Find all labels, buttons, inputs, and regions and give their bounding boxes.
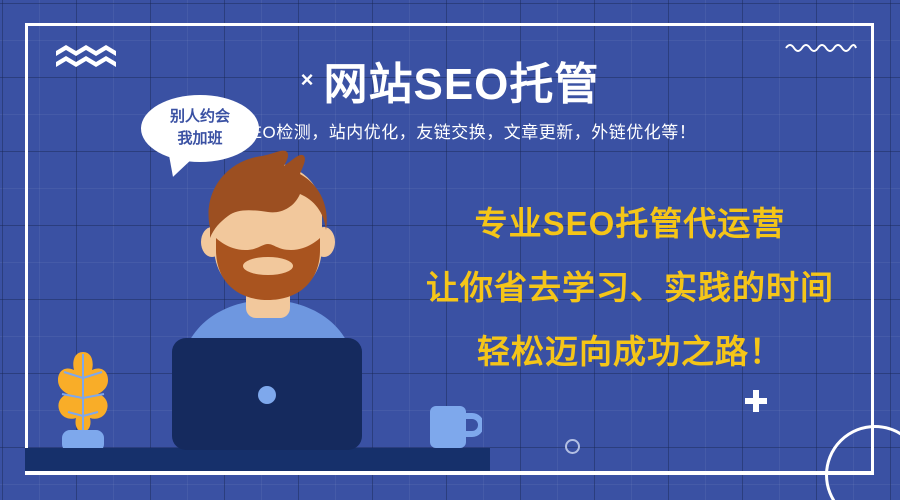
speech-bubble: 别人约会 我加班 (141, 95, 259, 162)
speech-bubble-line-2: 我加班 (141, 128, 259, 150)
laptop-illustration (172, 338, 362, 453)
subtitle-text: 含：SEO检测，站内优化，友链交换，文章更新，外链优化等！ (0, 118, 900, 143)
speech-bubble-line-1: 别人约会 (141, 106, 259, 128)
plus-mark-decoration (745, 390, 767, 412)
slogan-line-3: 轻松迈向成功之路！ (390, 320, 870, 384)
slogan-line-1: 专业SEO托管代运营 (390, 192, 870, 256)
title-prefix-mark: × (301, 67, 314, 93)
desk-edge-line (25, 471, 874, 474)
seo-hosting-banner: 别人约会 我加班 ×网站SEO托管 含：SEO检测，站内优化，友链交换，文章更新… (0, 0, 900, 500)
plant-illustration (48, 348, 118, 458)
slogan-line-2: 让你省去学习、实践的时间 (390, 256, 870, 320)
speech-bubble-text: 别人约会 我加班 (141, 106, 259, 150)
coffee-mug-illustration (428, 402, 482, 450)
title-text: 网站SEO托管 (323, 48, 599, 112)
slogan-list: 专业SEO托管代运营 让你省去学习、实践的时间 轻松迈向成功之路！ (390, 192, 870, 384)
page-title: ×网站SEO托管 (0, 48, 900, 112)
small-circle-decoration (565, 439, 580, 454)
